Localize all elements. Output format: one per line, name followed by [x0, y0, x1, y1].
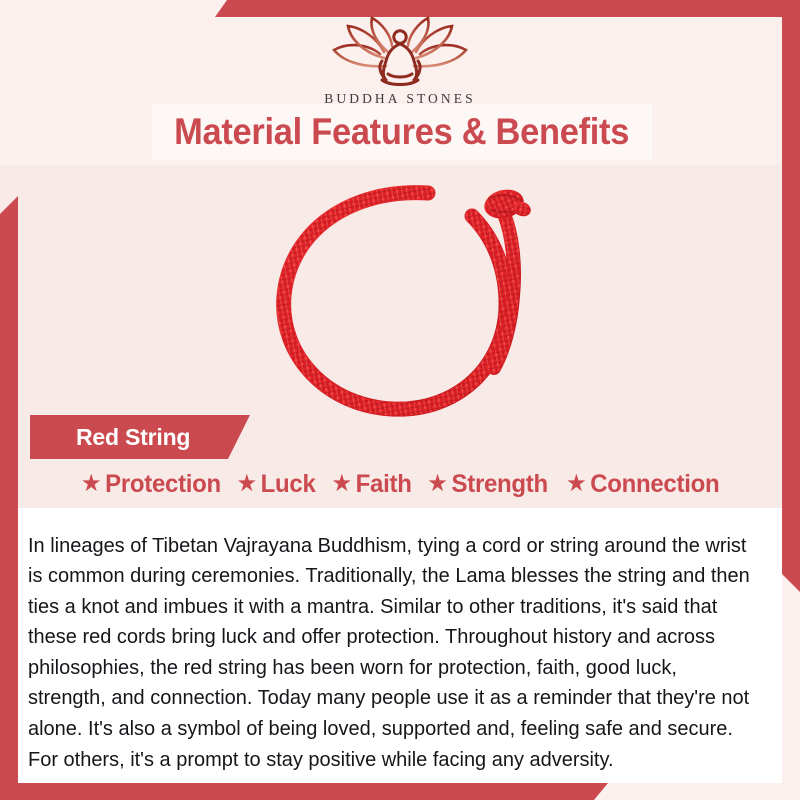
product-name-ribbon: Red String — [30, 415, 250, 459]
star-icon: ★ — [427, 472, 447, 496]
description-panel: In lineages of Tibetan Vajrayana Buddhis… — [18, 508, 782, 783]
bottom-accent-bar — [0, 783, 608, 800]
lotus-meditation-icon — [320, 14, 480, 88]
benefit-item-luck: ★ Luck — [227, 470, 316, 499]
star-icon: ★ — [331, 472, 351, 496]
benefit-label: Luck — [261, 470, 316, 499]
header: BUDDHA STONES Material Features & Benefi… — [0, 0, 800, 165]
star-icon: ★ — [566, 472, 586, 496]
star-icon: ★ — [237, 472, 257, 496]
product-image-red-cord-bracelet — [232, 168, 582, 438]
benefit-item-connection: ★ Connection — [556, 470, 719, 499]
benefit-label: Connection — [590, 470, 719, 499]
product-name-label: Red String — [76, 424, 190, 451]
benefits-list: ★ Protection ★ Luck ★ Faith ★ Strength ★… — [0, 466, 800, 502]
brand-logo: BUDDHA STONES — [0, 14, 800, 107]
page-title: Material Features & Benefits — [175, 111, 630, 153]
title-banner: Material Features & Benefits — [152, 104, 652, 160]
benefit-item-protection: ★ Protection — [80, 470, 220, 499]
benefit-label: Faith — [355, 470, 411, 499]
description-text: In lineages of Tibetan Vajrayana Buddhis… — [28, 531, 757, 776]
benefit-item-strength: ★ Strength — [418, 470, 548, 499]
star-icon: ★ — [80, 472, 100, 496]
benefit-label: Protection — [105, 470, 221, 499]
infographic-page: BUDDHA STONES Material Features & Benefi… — [0, 0, 800, 800]
benefit-item-faith: ★ Faith — [322, 470, 412, 499]
benefit-label: Strength — [452, 470, 548, 499]
